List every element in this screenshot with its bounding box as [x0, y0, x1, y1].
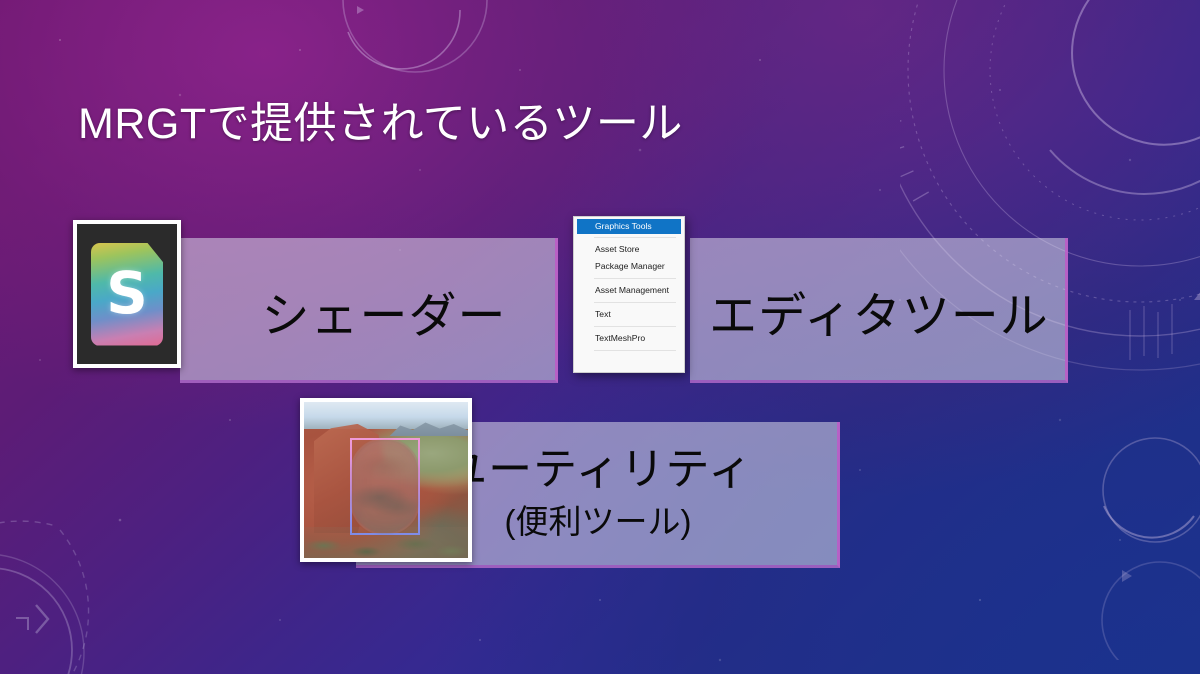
- blur-overlay-inner: [352, 440, 418, 534]
- menu-separator-5: [594, 350, 676, 351]
- shader-icon-letter: S: [106, 264, 148, 322]
- slide-canvas: 210 200 190 180 170 160 150 140 130 120 …: [0, 0, 1200, 674]
- hud-circles-bottom-left: [0, 500, 200, 674]
- unity-context-menu[interactable]: Graphics Tools Asset Store Package Manag…: [573, 216, 685, 373]
- hud-arc-right-mid: [1120, 300, 1200, 420]
- shader-icon-frame: S: [77, 224, 177, 364]
- page-title: MRGTで提供されているツール: [78, 100, 683, 149]
- menu-separator-3: [594, 302, 676, 303]
- band-utility-sublabel: (便利ツール): [505, 495, 692, 543]
- band-editor: エディタツール: [690, 238, 1068, 383]
- menu-separator-1: [594, 237, 676, 238]
- band-editor-label: エディタツール: [709, 276, 1049, 346]
- shader-icon-gradient-chip: S: [91, 243, 163, 346]
- menu-item-asset-management[interactable]: Asset Management: [574, 282, 684, 299]
- band-shader: シェーダー: [180, 238, 558, 383]
- band-shader-label-wrap: シェーダー: [180, 238, 558, 383]
- hud-circles-bottom-right: [1060, 420, 1200, 660]
- menu-item-text[interactable]: Text: [574, 306, 684, 323]
- menu-item-graphics-tools[interactable]: Graphics Tools: [577, 219, 681, 234]
- desert-canyon-photo: [300, 398, 472, 562]
- photo-image: [304, 402, 468, 558]
- menu-separator-4: [594, 326, 676, 327]
- band-editor-label-wrap: エディタツール: [690, 238, 1068, 383]
- svg-text:210: 210: [900, 189, 902, 208]
- band-shader-label: シェーダー: [261, 276, 506, 346]
- menu-item-package-manager[interactable]: Package Manager: [574, 258, 684, 275]
- blur-overlay-window: [350, 438, 420, 536]
- band-utility-label: ユーティリティ: [443, 447, 753, 493]
- photo-sky: [304, 402, 468, 429]
- hud-arrow-left-bottom: [30, 595, 90, 645]
- shader-asset-icon: S: [73, 220, 181, 368]
- menu-item-textmeshpro[interactable]: TextMeshPro: [574, 330, 684, 347]
- menu-separator-2: [594, 278, 676, 279]
- menu-item-asset-store[interactable]: Asset Store: [574, 241, 684, 258]
